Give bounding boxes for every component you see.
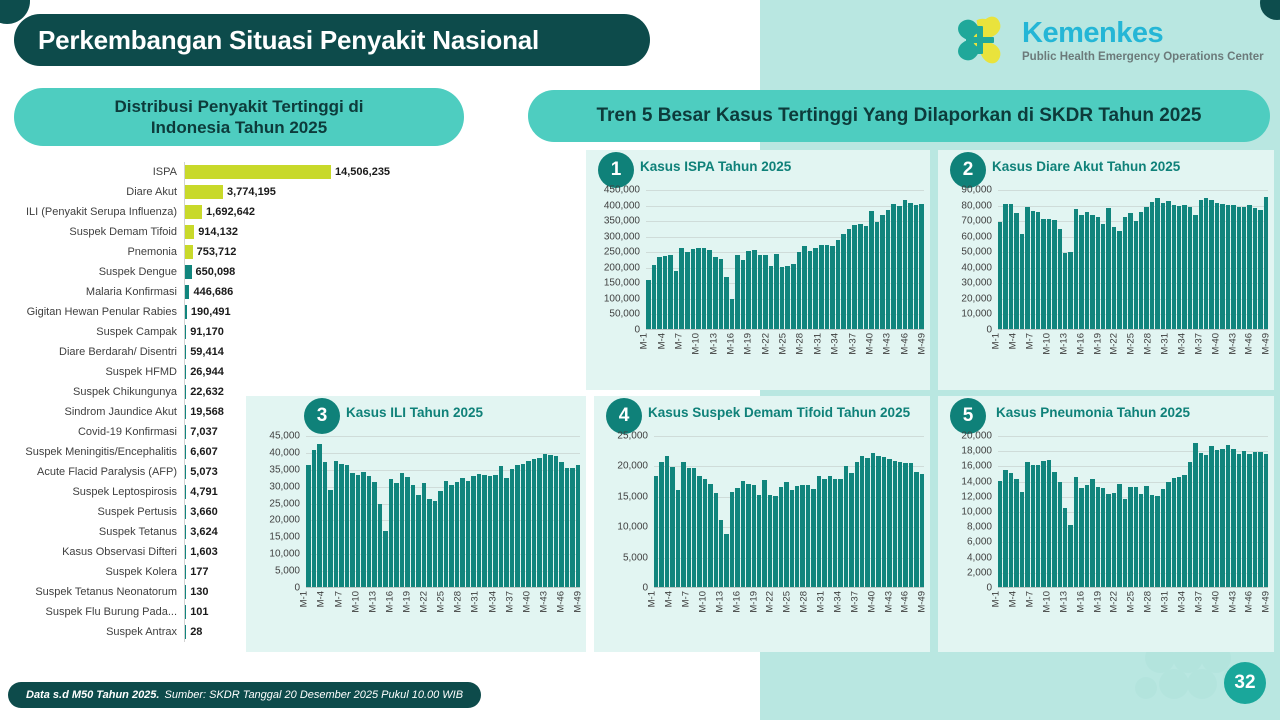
- distribusi-row-label: Suspek Dengue: [6, 266, 184, 278]
- x-axis-tick: [873, 330, 878, 378]
- chart-bar: [499, 466, 504, 587]
- x-axis-tick: [791, 588, 796, 636]
- chart-bar: [1215, 203, 1219, 329]
- distribusi-row: ILI (Penyakit Serupa Influenza)1,692,642: [6, 202, 426, 222]
- y-axis-tick: 50,000: [609, 309, 640, 320]
- chart-bar: [654, 476, 658, 587]
- footer-bold-text: Data s.d M50 Tahun 2025.: [26, 689, 159, 701]
- chart-bars: [654, 436, 924, 587]
- y-axis-tick: 14,000: [961, 476, 992, 487]
- x-axis: M-1M-4M-7M-10M-13M-16M-19M-22M-25M-28M-3…: [994, 588, 1274, 636]
- x-axis-tick: [856, 330, 861, 378]
- distribusi-row: Suspek Demam Tifoid914,132: [6, 222, 426, 242]
- chart-bar: [460, 478, 465, 587]
- distribusi-row-label: Malaria Konfirmasi: [6, 286, 184, 298]
- y-axis-tick: 30,000: [961, 278, 992, 289]
- chart-bar: [1161, 203, 1165, 329]
- y-axis-tick: 4,000: [967, 552, 992, 563]
- chart-bar: [646, 280, 651, 329]
- chart-bar: [565, 468, 570, 587]
- chart-bar: [1014, 479, 1018, 587]
- chart-bar: [1231, 449, 1235, 587]
- distribusi-row-bar: [185, 205, 202, 219]
- distribusi-row: Suspek HFMD26,944: [6, 362, 426, 382]
- x-axis-tick: M-25: [1129, 330, 1134, 378]
- x-axis-tick: M-1: [994, 588, 999, 636]
- x-axis-tick: [841, 588, 846, 636]
- x-axis-tick: M-4: [667, 588, 672, 636]
- x-axis-tick: M-49: [920, 330, 925, 378]
- chart-bar: [919, 204, 924, 329]
- x-axis-tick: M-37: [1197, 588, 1202, 636]
- distribusi-row-value: 446,686: [193, 286, 233, 298]
- chart-bar: [1020, 492, 1024, 587]
- x-axis-tick: [1050, 330, 1055, 378]
- x-axis-tick: M-34: [1180, 588, 1185, 636]
- distribusi-row: Gigitan Hewan Penular Rabies190,491: [6, 302, 426, 322]
- chart-bar: [909, 463, 913, 587]
- x-axis-tick: [740, 588, 745, 636]
- chart-bar: [785, 266, 790, 329]
- chart-bar: [1047, 460, 1051, 587]
- distribusi-row-value: 1,603: [190, 546, 218, 558]
- chart-bars: [998, 436, 1268, 587]
- x-axis-tick: [1219, 330, 1224, 378]
- chart-bar: [920, 474, 924, 587]
- distribusi-row-bar: [185, 385, 186, 399]
- x-axis-tick: M-34: [833, 330, 838, 378]
- chart-bar: [356, 475, 361, 587]
- chart-panel-diare-akut: 2Kasus Diare Akut Tahun 202590,00080,000…: [938, 150, 1274, 390]
- chart-bar: [752, 250, 757, 329]
- y-axis-tick: 10,000: [961, 309, 992, 320]
- chart-rank-badge: 1: [598, 152, 634, 188]
- y-axis-tick: 25,000: [269, 498, 300, 509]
- chart-bar: [806, 485, 810, 587]
- y-axis-tick: 10,000: [617, 522, 648, 533]
- x-axis-tick: M-10: [1045, 588, 1050, 636]
- distribusi-row-bar: [185, 325, 186, 339]
- distribusi-row-bar: [185, 345, 186, 359]
- chart-bar: [774, 254, 779, 329]
- chart-bar: [427, 499, 432, 587]
- distribusi-row: Suspek Campak91,170: [6, 322, 426, 342]
- logo-name: Kemenkes: [1022, 19, 1264, 48]
- chart-bar: [1112, 227, 1116, 329]
- x-axis-tick: M-43: [885, 330, 890, 378]
- y-axis-tick: 60,000: [961, 231, 992, 242]
- chart-bar: [570, 468, 575, 587]
- distribusi-row-label: Suspek Pertusis: [6, 506, 184, 518]
- distribusi-row-bar: [185, 465, 186, 479]
- chart-bar: [730, 299, 735, 329]
- chart-bar: [559, 462, 564, 587]
- chart-title: Kasus ILI Tahun 2025: [346, 405, 582, 420]
- x-axis-tick: [717, 330, 722, 378]
- x-axis-tick: [1168, 330, 1173, 378]
- x-axis-tick: M-13: [1062, 588, 1067, 636]
- chart-bar: [1025, 207, 1029, 329]
- chart-bar: [411, 485, 416, 587]
- y-axis-tick: 6,000: [967, 537, 992, 548]
- chart-bar: [1058, 482, 1062, 587]
- chart-bar: [897, 206, 902, 329]
- x-axis-tick: [1219, 588, 1224, 636]
- chart-bar: [1128, 487, 1132, 587]
- x-axis-tick: M-22: [422, 588, 427, 636]
- chart-bar: [367, 476, 372, 587]
- chart-bar: [477, 474, 482, 587]
- chart-bar: [841, 234, 846, 330]
- distribusi-row-bar: [185, 525, 186, 539]
- chart-bar: [1215, 450, 1219, 587]
- chart-bar: [1014, 213, 1018, 329]
- x-axis-tick: M-43: [1230, 330, 1235, 378]
- x-axis-tick: [1067, 588, 1072, 636]
- x-axis-tick: [821, 330, 826, 378]
- x-axis-tick: [752, 330, 757, 378]
- chart-bar: [537, 458, 542, 587]
- chart-bar: [1112, 493, 1116, 587]
- x-axis-tick: M-1: [650, 588, 655, 636]
- x-axis-tick: M-49: [1264, 330, 1269, 378]
- y-axis-tick: 50,000: [961, 247, 992, 258]
- chart-bar: [847, 229, 852, 329]
- x-axis-tick: M-1: [642, 330, 647, 378]
- distribusi-row-bar: [185, 445, 186, 459]
- y-axis-tick: 18,000: [961, 446, 992, 457]
- x-axis-tick: [1168, 588, 1173, 636]
- chart-bar: [875, 222, 880, 329]
- x-axis-tick: [325, 588, 330, 636]
- x-axis-tick: [1185, 330, 1190, 378]
- distribusi-row-bar: [185, 285, 189, 299]
- chart-bar: [791, 264, 796, 329]
- chart-bar: [1258, 210, 1262, 329]
- x-axis-tick: [1050, 588, 1055, 636]
- chart-bar: [903, 200, 908, 329]
- chart-bar: [532, 459, 537, 587]
- distribusi-row-bar: [185, 305, 187, 319]
- chart-bar: [466, 481, 471, 587]
- chart-bar: [914, 205, 919, 329]
- distribusi-row-bar: [185, 225, 194, 239]
- footer-source-note: Data s.d M50 Tahun 2025. Sumber: SKDR Ta…: [8, 682, 481, 708]
- chart-bar: [317, 444, 322, 587]
- distribusi-row-label: Suspek Kolera: [6, 566, 184, 578]
- chart-bar: [526, 461, 531, 587]
- chart-bar: [394, 483, 399, 587]
- x-axis-tick: M-7: [684, 588, 689, 636]
- x-axis-tick: [1270, 588, 1275, 636]
- y-axis-tick: 100,000: [604, 293, 640, 304]
- chart-bar: [515, 465, 520, 587]
- x-axis-tick: [804, 330, 809, 378]
- x-axis-tick: M-7: [1028, 588, 1033, 636]
- chart-bar: [652, 265, 657, 329]
- chart-bar: [825, 245, 830, 329]
- x-axis-tick: M-10: [1045, 330, 1050, 378]
- x-axis-tick: [682, 330, 687, 378]
- chart-bars: [306, 436, 580, 587]
- y-axis-tick: 450,000: [604, 185, 640, 196]
- x-axis-tick: [656, 588, 661, 636]
- chart-rank-badge: 3: [304, 398, 340, 434]
- distribusi-row: Suspek Dengue650,098: [6, 262, 426, 282]
- chart-bar: [1079, 488, 1083, 587]
- x-axis-tick: [1236, 330, 1241, 378]
- y-axis-tick: 2,000: [967, 567, 992, 578]
- chart-bar: [1166, 482, 1170, 587]
- chart-bar: [455, 482, 460, 587]
- x-axis-tick: M-49: [920, 588, 925, 636]
- chart-bar: [685, 252, 690, 329]
- x-axis-tick: M-19: [751, 588, 756, 636]
- chart-title: Kasus Pneumonia Tahun 2025: [996, 405, 1270, 420]
- x-axis-tick: [735, 330, 740, 378]
- chart-bar: [855, 462, 859, 587]
- chart-bar: [1209, 200, 1213, 329]
- distribusi-row-bar-cell: 753,712: [184, 242, 334, 262]
- x-axis-tick: [648, 330, 653, 378]
- x-axis-tick: M-37: [1197, 330, 1202, 378]
- x-axis-tick: [462, 588, 467, 636]
- chart-bar: [797, 252, 802, 329]
- distribusi-row-value: 130: [190, 586, 208, 598]
- chart-bar: [1074, 477, 1078, 587]
- chart-bar: [1220, 449, 1224, 587]
- distribusi-row-value: 650,098: [196, 266, 236, 278]
- chart-bar: [844, 466, 848, 587]
- chart-bar: [891, 204, 896, 329]
- distribusi-row-label: Acute Flacid Paralysis (AFP): [6, 466, 184, 478]
- chart-bar: [768, 495, 772, 587]
- x-axis-tick: [925, 330, 930, 378]
- y-axis-tick: 10,000: [961, 507, 992, 518]
- distribusi-row-bar-cell: 26,944: [184, 362, 334, 382]
- x-axis-tick: M-31: [815, 330, 820, 378]
- x-axis-tick: M-19: [405, 588, 410, 636]
- chart-bar: [828, 476, 832, 587]
- chart-bar: [1144, 207, 1148, 329]
- chart-bar: [871, 453, 875, 587]
- section-title-left: Distribusi Penyakit Tertinggi di Indones…: [14, 88, 464, 146]
- distribusi-row-bar: [185, 165, 331, 179]
- x-axis-tick: M-4: [1011, 588, 1016, 636]
- chart-bar: [1182, 205, 1186, 329]
- chart-bar: [504, 478, 509, 587]
- distribusi-row-value: 101: [190, 606, 208, 618]
- chart-bar: [1052, 472, 1056, 587]
- x-axis-tick: M-22: [1112, 588, 1117, 636]
- x-axis-tick: M-19: [746, 330, 751, 378]
- chart-bar: [350, 473, 355, 587]
- x-axis-tick: M-31: [1163, 588, 1168, 636]
- chart-bar: [1182, 475, 1186, 587]
- x-axis-tick: M-37: [507, 588, 512, 636]
- chart-bar: [1123, 217, 1127, 329]
- y-axis-tick: 20,000: [269, 515, 300, 526]
- chart-bar: [697, 476, 701, 587]
- distribusi-row-bar-cell: 14,506,235: [184, 162, 334, 182]
- x-axis-tick: [689, 588, 694, 636]
- x-axis-tick: M-46: [1247, 330, 1252, 378]
- chart-bar: [1096, 487, 1100, 587]
- chart-bar: [548, 455, 553, 587]
- x-axis-tick: [1118, 588, 1123, 636]
- chart-bar: [869, 211, 874, 329]
- chart-bar: [724, 534, 728, 587]
- chart-bar: [339, 464, 344, 587]
- x-axis-tick: M-34: [836, 588, 841, 636]
- section-title-right: Tren 5 Besar Kasus Tertinggi Yang Dilapo…: [528, 90, 1270, 142]
- chart-bar: [1036, 212, 1040, 329]
- y-axis-tick: 8,000: [967, 522, 992, 533]
- x-axis-tick: [875, 588, 880, 636]
- chart-bar: [1031, 211, 1035, 329]
- distribusi-row-label: Suspek HFMD: [6, 366, 184, 378]
- chart-bar: [865, 458, 869, 587]
- chart-bar: [681, 462, 685, 587]
- x-axis-tick: [774, 588, 779, 636]
- distribusi-row-bar: [185, 565, 186, 579]
- chart-bar: [1220, 204, 1224, 329]
- x-axis-tick: [892, 588, 897, 636]
- distribusi-row-label: Covid-19 Konfirmasi: [6, 426, 184, 438]
- x-axis-tick: M-13: [370, 588, 375, 636]
- chart-plot-area: 90,00080,00070,00060,00050,00040,00030,0…: [942, 190, 1268, 330]
- x-axis-tick: M-22: [763, 330, 768, 378]
- x-axis-tick: M-40: [1213, 588, 1218, 636]
- chart-bars: [646, 190, 924, 329]
- y-axis-tick: 20,000: [617, 461, 648, 472]
- chart-bar: [668, 255, 673, 329]
- distribusi-row-value: 28: [190, 626, 202, 638]
- section-title-left-line2: Indonesia Tahun 2025: [151, 117, 327, 138]
- chart-bar: [378, 504, 383, 587]
- chart-bar: [876, 456, 880, 587]
- x-axis-tick: [769, 330, 774, 378]
- x-axis-tick: M-49: [1264, 588, 1269, 636]
- x-axis-tick: [1118, 330, 1123, 378]
- chart-bar: [1150, 495, 1154, 587]
- chart-bar: [482, 475, 487, 587]
- y-axis: 450,000400,000350,000300,000250,000200,0…: [590, 190, 644, 330]
- x-axis-tick: [1017, 330, 1022, 378]
- chart-bar: [1090, 215, 1094, 329]
- distribusi-row-bar: [185, 505, 186, 519]
- section-title-left-line1: Distribusi Penyakit Tertinggi di: [114, 96, 363, 117]
- chart-bar: [670, 467, 674, 587]
- x-axis-tick: M-4: [319, 588, 324, 636]
- x-axis-tick: M-25: [781, 330, 786, 378]
- chart-bar: [998, 481, 1002, 587]
- chart-bar: [493, 475, 498, 587]
- chart-bar: [1009, 473, 1013, 587]
- y-axis-tick: 35,000: [269, 464, 300, 475]
- chart-bar: [676, 490, 680, 587]
- chart-bar: [1155, 496, 1159, 587]
- chart-grid: [306, 436, 580, 588]
- distribusi-row-label: Diare Akut: [6, 186, 184, 198]
- chart-bar: [838, 479, 842, 587]
- x-axis-tick: [1152, 588, 1157, 636]
- x-axis-tick: [359, 588, 364, 636]
- x-axis-tick: [1202, 588, 1207, 636]
- x-axis-tick: [1067, 330, 1072, 378]
- y-axis: 90,00080,00070,00060,00050,00040,00030,0…: [942, 190, 996, 330]
- x-axis-tick: M-10: [694, 330, 699, 378]
- chart-plot-area: 20,00018,00016,00014,00012,00010,0008,00…: [942, 436, 1268, 588]
- y-axis-tick: 70,000: [961, 216, 992, 227]
- chart-bar: [746, 251, 751, 329]
- chart-bar: [674, 271, 679, 329]
- x-axis-tick: M-19: [1095, 588, 1100, 636]
- chart-bar: [416, 495, 421, 587]
- x-axis-tick: M-7: [336, 588, 341, 636]
- distribusi-row-value: 59,414: [190, 346, 224, 358]
- chart-bar: [1264, 197, 1268, 329]
- chart-bar: [1134, 221, 1138, 329]
- chart-bar: [1204, 455, 1208, 587]
- chart-bar: [1134, 487, 1138, 587]
- chart-bar: [1117, 484, 1121, 587]
- y-axis-tick: 30,000: [269, 481, 300, 492]
- chart-grid: [998, 436, 1268, 588]
- x-axis-tick: [1033, 588, 1038, 636]
- chart-plot-area: 45,00040,00035,00030,00025,00020,00015,0…: [250, 436, 580, 588]
- x-axis-tick: M-16: [729, 330, 734, 378]
- x-axis-tick: M-4: [659, 330, 664, 378]
- x-axis-tick: M-4: [1011, 330, 1016, 378]
- chart-bar: [433, 501, 438, 587]
- chart-bar: [784, 482, 788, 587]
- chart-bar: [1242, 451, 1246, 587]
- distribusi-row-bar: [185, 545, 186, 559]
- chart-plot-area: 450,000400,000350,000300,000250,000200,0…: [590, 190, 924, 330]
- x-axis-tick: M-43: [1230, 588, 1235, 636]
- chart-bar: [752, 485, 756, 587]
- x-axis-tick: M-28: [456, 588, 461, 636]
- chart-bar: [703, 479, 707, 587]
- chart-rank-badge: 4: [606, 398, 642, 434]
- chart-bar: [1226, 445, 1230, 587]
- x-axis-tick: [673, 588, 678, 636]
- chart-bar: [1117, 231, 1121, 329]
- chart-bar: [802, 246, 807, 329]
- x-axis-tick: M-46: [1247, 588, 1252, 636]
- x-axis-tick: [723, 588, 728, 636]
- x-axis-tick: [393, 588, 398, 636]
- chart-bar: [887, 459, 891, 587]
- chart-bar: [1085, 485, 1089, 587]
- distribusi-row-label: Suspek Chikungunya: [6, 386, 184, 398]
- page-number-badge: 32: [1224, 662, 1266, 704]
- chart-bar: [713, 257, 718, 329]
- chart-bar: [663, 256, 668, 329]
- chart-panel-ili: 3Kasus ILI Tahun 202545,00040,00035,0003…: [246, 396, 586, 652]
- kemenkes-logo: Kemenkes Public Health Emergency Operati…: [950, 8, 1272, 74]
- chart-bar: [1041, 219, 1045, 329]
- x-axis: M-1M-4M-7M-10M-13M-16M-19M-22M-25M-28M-3…: [994, 330, 1274, 378]
- x-axis-tick: M-10: [701, 588, 706, 636]
- chart-bar: [741, 260, 746, 329]
- chart-bar: [449, 485, 454, 587]
- x-axis-tick: [706, 588, 711, 636]
- x-axis-tick: [1101, 330, 1106, 378]
- chart-bar: [1237, 454, 1241, 587]
- chart-bar: [1139, 212, 1143, 329]
